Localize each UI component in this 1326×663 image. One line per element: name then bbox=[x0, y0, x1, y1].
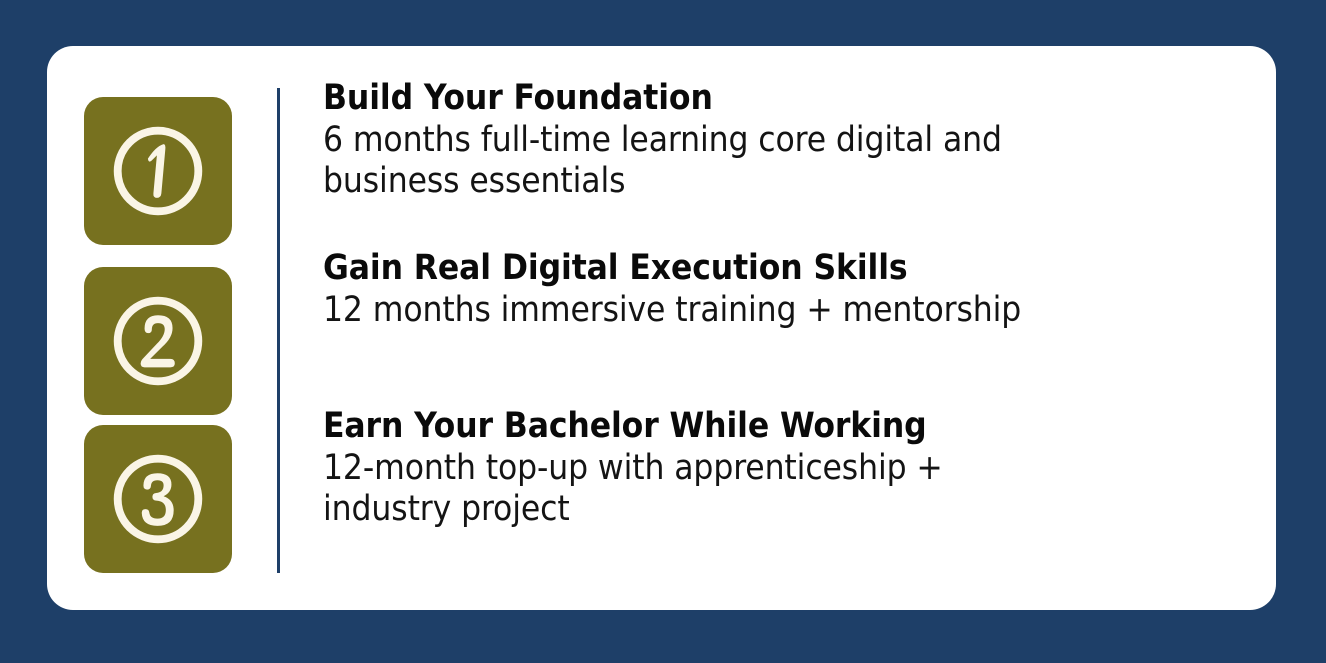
step-badge-3 bbox=[84, 425, 232, 573]
step-text-2: Gain Real Digital Execution Skills 12 mo… bbox=[323, 246, 1223, 331]
circled-number-one-icon bbox=[102, 115, 214, 227]
step-badge-1 bbox=[84, 97, 232, 245]
step-title: Earn Your Bachelor While Working bbox=[323, 404, 1223, 448]
list-item: Earn Your Bachelor While Working 12-mont… bbox=[47, 425, 1276, 573]
circled-number-three-icon bbox=[102, 443, 214, 555]
step-badge-2 bbox=[84, 267, 232, 415]
list-item: Gain Real Digital Execution Skills 12 mo… bbox=[47, 267, 1276, 415]
step-text-3: Earn Your Bachelor While Working 12-mont… bbox=[323, 404, 1223, 530]
step-description: 12-month top-up with apprenticeship + in… bbox=[323, 448, 1023, 530]
steps-card: Build Your Foundation 6 months full-time… bbox=[47, 46, 1276, 610]
slide-canvas: Build Your Foundation 6 months full-time… bbox=[0, 0, 1326, 663]
step-description: 6 months full-time learning core digital… bbox=[323, 120, 1083, 202]
steps-list: Build Your Foundation 6 months full-time… bbox=[47, 46, 1276, 610]
circled-number-two-icon bbox=[102, 285, 214, 397]
step-description: 12 months immersive training + mentorshi… bbox=[323, 290, 1083, 331]
step-title: Gain Real Digital Execution Skills bbox=[323, 246, 1223, 290]
step-title: Build Your Foundation bbox=[323, 76, 1223, 120]
list-item: Build Your Foundation 6 months full-time… bbox=[47, 97, 1276, 245]
step-text-1: Build Your Foundation 6 months full-time… bbox=[323, 76, 1223, 202]
